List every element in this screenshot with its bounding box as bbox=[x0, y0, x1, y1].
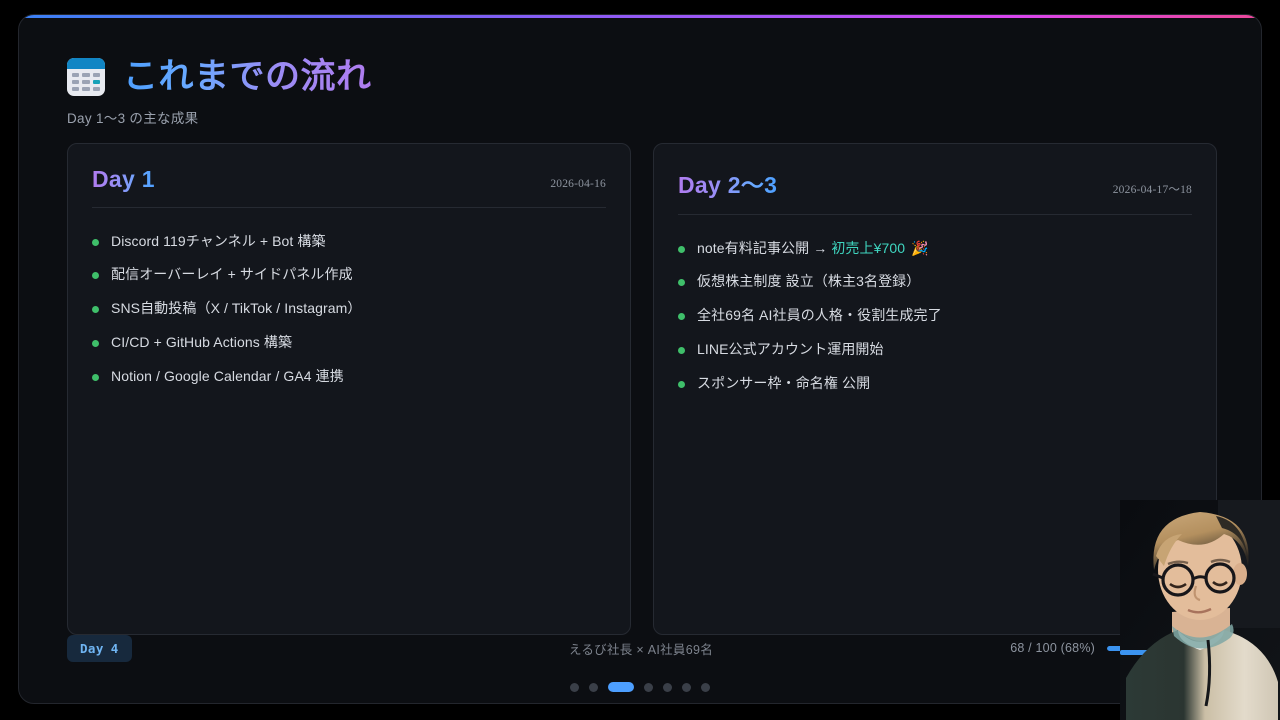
list-item-text: スポンサー枠・命名権 公開 bbox=[697, 374, 1192, 393]
bullet-dot-icon bbox=[92, 374, 99, 381]
card-divider bbox=[678, 214, 1192, 215]
title-row: これまでの流れ bbox=[67, 57, 1167, 96]
list-item-text: CI/CD + GitHub Actions 構築 bbox=[111, 333, 606, 352]
progress-text: 68 / 100 (68%) bbox=[1010, 641, 1095, 655]
bullet-dot-icon bbox=[678, 381, 685, 388]
list-item: Notion / Google Calendar / GA4 連携 bbox=[92, 360, 606, 394]
calendar-cell bbox=[82, 87, 89, 91]
page-subtitle: Day 1〜3 の主な成果 bbox=[67, 107, 1167, 127]
list-item-text: Notion / Google Calendar / GA4 連携 bbox=[111, 367, 606, 386]
calendar-cell bbox=[93, 87, 100, 91]
list-item: 配信オーバーレイ + サイドパネル作成 bbox=[92, 258, 606, 292]
calendar-cell bbox=[82, 73, 89, 77]
list-item-text-lead: note有料記事公開 → bbox=[697, 240, 831, 256]
list-item: Discord 119チャンネル + Bot 構築 bbox=[92, 224, 606, 258]
calendar-cell bbox=[93, 73, 100, 77]
list-item-text: 配信オーバーレイ + サイドパネル作成 bbox=[111, 265, 606, 284]
bullet-dot-icon bbox=[92, 239, 99, 246]
cards-container: Day 1 2026-04-16 Discord 119チャンネル + Bot … bbox=[67, 143, 1217, 635]
list-item-text: Discord 119チャンネル + Bot 構築 bbox=[111, 232, 606, 251]
card-header: Day 1 2026-04-16 bbox=[92, 166, 606, 193]
party-popper-icon: 🎉 bbox=[911, 240, 929, 256]
card-date: 2026-04-17〜18 bbox=[1113, 181, 1192, 197]
pagination-dot-1[interactable] bbox=[570, 683, 579, 692]
pagination-dots[interactable] bbox=[19, 682, 1261, 692]
list-item: CI/CD + GitHub Actions 構築 bbox=[92, 326, 606, 360]
list-item: 全社69名 AI社員の人格・役割生成完了 bbox=[678, 299, 1192, 333]
pagination-dot-5[interactable] bbox=[663, 683, 672, 692]
webcam-overlay bbox=[1120, 500, 1280, 720]
pagination-dot-2[interactable] bbox=[589, 683, 598, 692]
calendar-cell bbox=[82, 80, 89, 84]
screen-root: これまでの流れ Day 1〜3 の主な成果 Day 1 2026-04-16 D… bbox=[0, 0, 1280, 720]
calendar-cell bbox=[72, 87, 79, 91]
calendar-icon-header bbox=[67, 58, 105, 69]
day-badge: Day 4 bbox=[67, 635, 132, 662]
list-item: LINE公式アカウント運用開始 bbox=[678, 333, 1192, 367]
card-title: Day 2〜3 bbox=[678, 166, 777, 200]
slide-footer: Day 4 えるび社長 × AI社員69名 68 / 100 (68%) bbox=[67, 635, 1215, 661]
bullet-list: Discord 119チャンネル + Bot 構築 配信オーバーレイ + サイド… bbox=[92, 224, 606, 393]
pagination-dot-4[interactable] bbox=[644, 683, 653, 692]
slide-header: これまでの流れ Day 1〜3 の主な成果 bbox=[67, 57, 1167, 127]
bullet-dot-icon bbox=[678, 313, 685, 320]
calendar-icon-grid bbox=[72, 73, 100, 91]
presentation-slide: これまでの流れ Day 1〜3 の主な成果 Day 1 2026-04-16 D… bbox=[18, 14, 1262, 704]
card-header: Day 2〜3 2026-04-17〜18 bbox=[678, 166, 1192, 200]
card-date: 2026-04-16 bbox=[550, 178, 606, 190]
page-title: これまでの流れ bbox=[123, 57, 372, 96]
bullet-dot-icon bbox=[678, 347, 685, 354]
highlight-revenue: 初売上¥700 bbox=[831, 240, 905, 256]
calendar-icon bbox=[67, 58, 105, 96]
gradient-accent-bar bbox=[19, 15, 1261, 18]
pagination-dot-3-active[interactable] bbox=[608, 682, 634, 692]
bullet-dot-icon bbox=[678, 279, 685, 286]
calendar-cell bbox=[72, 80, 79, 84]
bullet-dot-icon bbox=[678, 246, 685, 253]
pagination-dot-7[interactable] bbox=[701, 683, 710, 692]
bullet-list: note有料記事公開 → 初売上¥700🎉 仮想株主制度 設立（株主3名登録） … bbox=[678, 231, 1192, 400]
day-badge-value: 4 bbox=[111, 641, 119, 656]
list-item-text: note有料記事公開 → 初売上¥700🎉 bbox=[697, 239, 1192, 258]
list-item-text: SNS自動投稿（X / TikTok / Instagram） bbox=[111, 299, 606, 318]
list-item: note有料記事公開 → 初売上¥700🎉 bbox=[678, 231, 1192, 265]
bullet-dot-icon bbox=[92, 272, 99, 279]
bullet-dot-icon bbox=[92, 306, 99, 313]
calendar-cell bbox=[72, 73, 79, 77]
list-item: スポンサー枠・命名権 公開 bbox=[678, 367, 1192, 401]
list-item: SNS自動投稿（X / TikTok / Instagram） bbox=[92, 292, 606, 326]
list-item-text: 全社69名 AI社員の人格・役割生成完了 bbox=[697, 306, 1192, 325]
list-item-text: 仮想株主制度 設立（株主3名登録） bbox=[697, 272, 1192, 291]
day-badge-label: Day bbox=[80, 641, 104, 656]
card-day-1: Day 1 2026-04-16 Discord 119チャンネル + Bot … bbox=[67, 143, 631, 635]
list-item-text: LINE公式アカウント運用開始 bbox=[697, 340, 1192, 359]
card-title: Day 1 bbox=[92, 166, 155, 193]
calendar-cell-today bbox=[93, 80, 100, 84]
card-divider bbox=[92, 207, 606, 208]
list-item: 仮想株主制度 設立（株主3名登録） bbox=[678, 265, 1192, 299]
pagination-dot-6[interactable] bbox=[682, 683, 691, 692]
bullet-dot-icon bbox=[92, 340, 99, 347]
